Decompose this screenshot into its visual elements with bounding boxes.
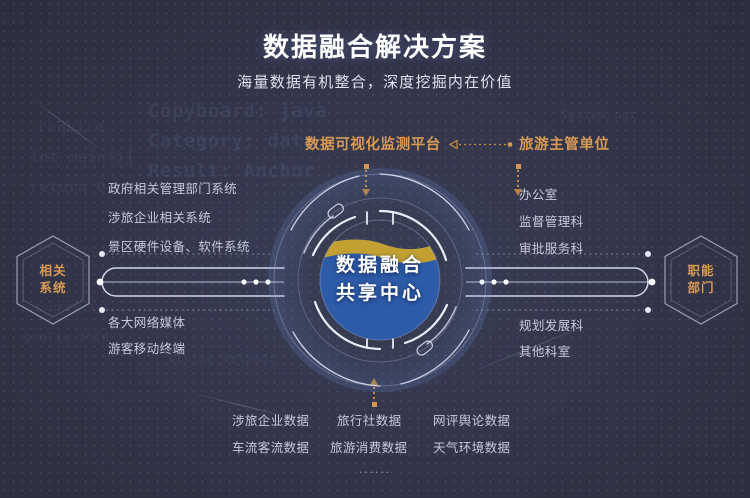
hexagon-left-line2: 系统 <box>39 280 66 297</box>
right-item-1[interactable]: 监督管理科 <box>519 211 584 230</box>
hexagon-right-line1: 职能 <box>687 263 714 280</box>
right-item-0[interactable]: 办公室 <box>519 184 558 203</box>
right-item-2[interactable]: 审批服务科 <box>519 238 584 257</box>
right-item-4[interactable]: 其他科室 <box>519 341 571 360</box>
hexagon-left-line1: 相关 <box>39 263 66 280</box>
hexagon-functional-departments[interactable]: 职能 部门 <box>660 233 742 327</box>
left-item-3[interactable]: 各大网络媒体 <box>108 312 185 331</box>
left-item-0[interactable]: 政府相关管理部门系统 <box>108 178 237 197</box>
bottom-item-r1c0[interactable]: 车流客流数据 <box>232 437 309 456</box>
bottom-item-r1c2[interactable]: 天气环境数据 <box>433 437 510 456</box>
watermark-text: Copyboard: java <box>148 100 327 122</box>
watermark-text: require <box>38 118 105 136</box>
left-item-4[interactable]: 游客移动终端 <box>108 338 185 357</box>
bottom-ellipsis: ...... <box>0 462 750 476</box>
data-fusion-core[interactable]: 数据融合 共享中心 <box>255 160 505 400</box>
watermark-text: public void <box>24 330 109 344</box>
left-item-1[interactable]: 涉旅企业相关系统 <box>108 207 211 226</box>
hexagon-related-systems[interactable]: 相关 系统 <box>12 233 94 327</box>
hexagon-right-line2: 部门 <box>687 280 714 297</box>
right-item-3[interactable]: 规划发展科 <box>519 315 584 334</box>
watermark-text: Category: data <box>148 130 315 152</box>
dotted-arrow-left-icon <box>447 139 515 150</box>
light-streak <box>28 96 105 153</box>
bottom-item-r1c1[interactable]: 旅游消费数据 <box>330 437 407 456</box>
bottom-item-r0c1[interactable]: 旅行社数据 <box>337 410 402 429</box>
bottom-item-r0c2[interactable]: 网评舆论数据 <box>433 410 510 429</box>
label-tourism-authority[interactable]: 旅游主管单位 <box>519 133 610 154</box>
watermark-text: return 0; <box>30 178 116 196</box>
label-visualization-platform[interactable]: 数据可视化监测平台 <box>305 133 441 154</box>
watermark-text: int main(){ <box>30 148 135 166</box>
page-subtitle: 海量数据有机整合，深度挖掘内在价值 <box>0 71 750 92</box>
watermark-text: System.out <box>560 108 637 122</box>
infographic-canvas: Copyboard: java Category: data Result: A… <box>0 0 750 498</box>
page-title: 数据融合解决方案 <box>0 27 750 64</box>
left-item-2[interactable]: 景区硬件设备、软件系统 <box>108 236 250 255</box>
bottom-item-r0c0[interactable]: 涉旅企业数据 <box>232 410 309 429</box>
